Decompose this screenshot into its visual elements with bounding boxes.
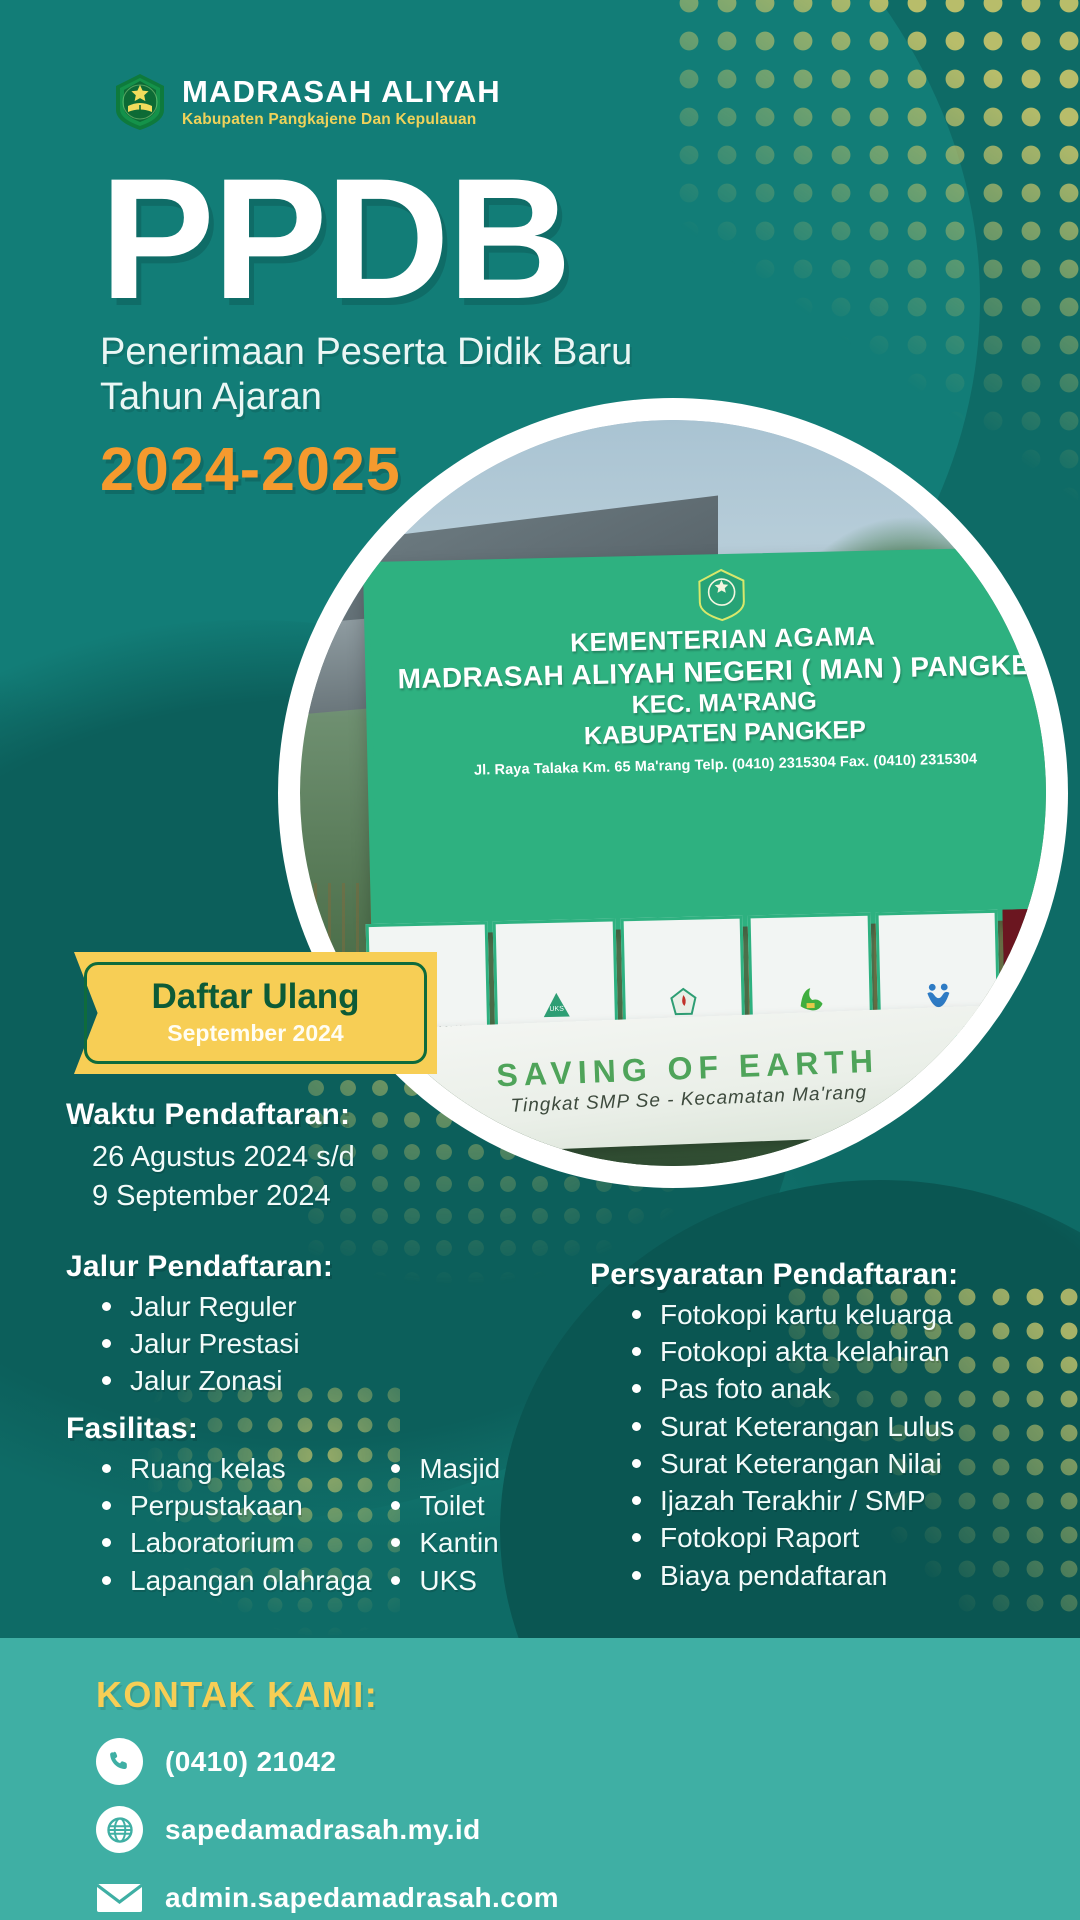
headline-subtitle-line2: Tahun Ajaran — [100, 375, 632, 420]
list-item: UKS — [389, 1562, 500, 1599]
globe-icon — [96, 1806, 143, 1853]
persyaratan-block: Persyaratan Pendaftaran: Fotokopi kartu … — [590, 1258, 958, 1594]
list-item: Fotokopi kartu keluarga — [630, 1296, 958, 1333]
list-item: Jalur Reguler — [100, 1288, 333, 1325]
jalur-list: Jalur Reguler Jalur Prestasi Jalur Zonas… — [100, 1288, 333, 1400]
list-item: Masjid — [389, 1450, 500, 1487]
list-item: Biaya pendaftaran — [630, 1557, 958, 1594]
daftar-ulang-month: September 2024 — [167, 1020, 343, 1047]
fasilitas-heading: Fasilitas: — [66, 1412, 500, 1446]
list-item: Lapangan olahraga — [100, 1562, 371, 1599]
headline-subtitle-line1: Penerimaan Peserta Didik Baru — [100, 330, 632, 375]
persyaratan-list: Fotokopi kartu keluarga Fotokopi akta ke… — [630, 1296, 958, 1594]
svg-text:UKS: UKS — [549, 1006, 564, 1013]
kemenag-crest-icon — [695, 568, 748, 623]
list-item: Ijazah Terakhir / SMP — [630, 1482, 958, 1519]
madrasah-crest-icon — [112, 72, 168, 132]
osis-emblem-icon: OSIS — [1030, 955, 1046, 990]
list-item: Jalur Prestasi — [100, 1325, 333, 1362]
list-item: Toilet — [389, 1487, 500, 1524]
envelope-icon — [96, 1874, 143, 1920]
contact-footer: KONTAK KAMI: (0410) 21042 sapedamadrasah… — [0, 1638, 1080, 1920]
contact-row-email[interactable]: admin.sapedamadrasah.com — [96, 1874, 559, 1920]
waktu-heading: Waktu Pendaftaran: — [66, 1098, 355, 1132]
brand-title: MADRASAH ALIYAH — [182, 76, 501, 107]
ppdb-poster: MADRASAH ALIYAH Kabupaten Pangkajene Dan… — [0, 0, 1080, 1920]
list-item: Fotokopi Raport — [630, 1519, 958, 1556]
waktu-line2: 9 September 2024 — [92, 1177, 355, 1216]
fasilitas-block: Fasilitas: Ruang kelas Perpustakaan Labo… — [66, 1412, 500, 1599]
contact-email-value: admin.sapedamadrasah.com — [165, 1882, 559, 1914]
list-item: Laboratorium — [100, 1524, 371, 1561]
brand-header: MADRASAH ALIYAH Kabupaten Pangkajene Dan… — [112, 72, 501, 132]
contact-row-website[interactable]: sapedamadrasah.my.id — [96, 1806, 481, 1853]
signboard: KEMENTERIAN AGAMA MADRASAH ALIYAH NEGERI… — [363, 546, 1046, 935]
jalur-pendaftaran-block: Jalur Pendaftaran: Jalur Reguler Jalur P… — [66, 1250, 333, 1400]
list-item: Perpustakaan — [100, 1487, 371, 1524]
list-item: Jalur Zonasi — [100, 1362, 333, 1399]
svg-text:OSIS: OSIS — [1037, 983, 1046, 989]
brand-subtitle: Kabupaten Pangkajene Dan Kepulauan — [182, 112, 501, 128]
kerohanian-islam-icon — [796, 984, 827, 1015]
list-item: Fotokopi akta kelahiran — [630, 1333, 958, 1370]
contact-phone-value: (0410) 21042 — [165, 1746, 336, 1778]
contact-heading: KONTAK KAMI: — [96, 1674, 378, 1716]
event-banner: SAVING OF EARTH Tingkat SMP Se - Kecamat… — [343, 1004, 1034, 1157]
list-item: Kantin — [389, 1524, 500, 1561]
list-item: Pas foto anak — [630, 1370, 958, 1407]
uks-triangle-icon: UKS — [541, 990, 572, 1021]
daftar-ulang-title: Daftar Ulang — [151, 979, 359, 1016]
phone-icon — [96, 1738, 143, 1785]
contact-row-phone[interactable]: (0410) 21042 — [96, 1738, 336, 1785]
kpmr-shield-icon — [668, 987, 699, 1018]
contact-website-value: sapedamadrasah.my.id — [165, 1814, 481, 1846]
list-item: Surat Keterangan Nilai — [630, 1445, 958, 1482]
fasilitas-list-column2: Masjid Toilet Kantin UKS — [389, 1450, 500, 1599]
waktu-pendaftaran-block: Waktu Pendaftaran: 26 Agustus 2024 s/d 9… — [66, 1098, 355, 1215]
fasilitas-list-column1: Ruang kelas Perpustakaan Laboratorium La… — [100, 1450, 371, 1599]
jalur-heading: Jalur Pendaftaran: — [66, 1250, 333, 1284]
waktu-line1: 26 Agustus 2024 s/d — [92, 1138, 355, 1177]
ppdb-acronym: PPDB — [100, 160, 632, 318]
daftar-ulang-ribbon-content: Daftar Ulang September 2024 — [84, 962, 427, 1064]
list-item: Ruang kelas — [100, 1450, 371, 1487]
persyaratan-heading: Persyaratan Pendaftaran: — [590, 1258, 958, 1292]
list-item: Surat Keterangan Lulus — [630, 1408, 958, 1445]
